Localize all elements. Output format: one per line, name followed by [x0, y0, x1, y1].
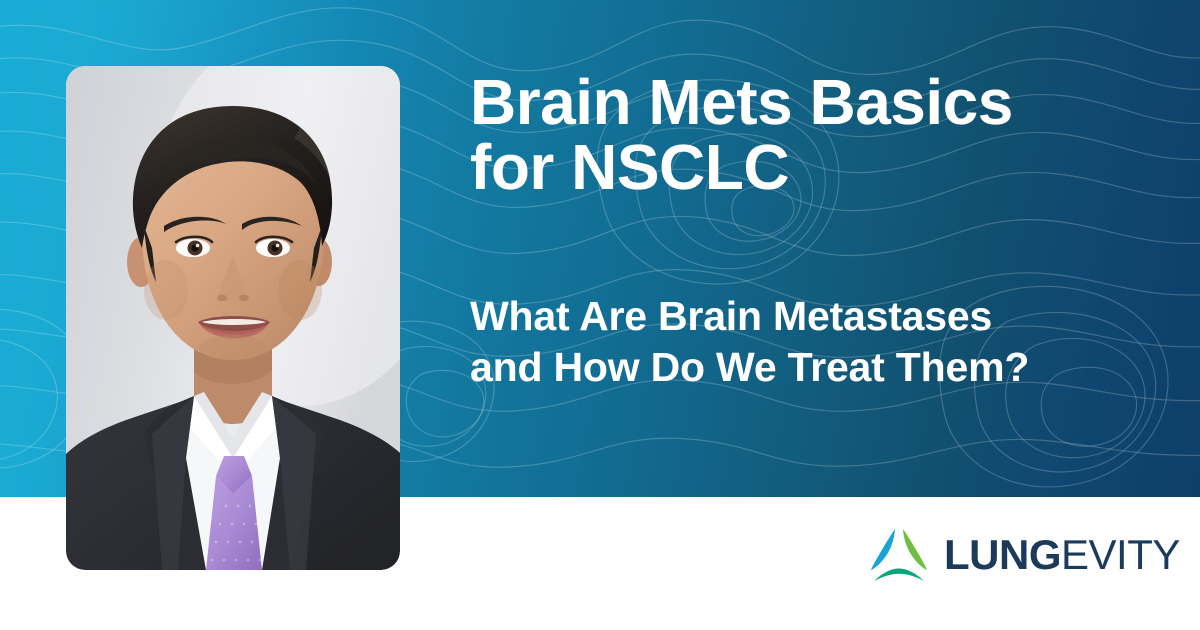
page-subtitle: What Are Brain Metastases and How Do We … [470, 291, 1160, 394]
promo-banner: Brain Mets Basics for NSCLC What Are Bra… [0, 0, 1200, 630]
wordmark-light-part: EVITY [1061, 531, 1180, 578]
headline-line-1: Brain Mets Basics [470, 70, 1160, 135]
subhead-line-1: What Are Brain Metastases [470, 291, 1160, 342]
headline-line-2: for NSCLC [470, 135, 1160, 200]
speaker-portrait-photo [66, 66, 400, 570]
subhead-line-2: and How Do We Treat Them? [470, 342, 1160, 393]
wordmark-bold-part: LUNG [944, 531, 1061, 578]
lungevity-wordmark: LUNGEVITY [944, 534, 1180, 576]
lungevity-logo[interactable]: LUNGEVITY [868, 524, 1184, 586]
page-title: Brain Mets Basics for NSCLC [470, 70, 1160, 201]
hero-text-block: Brain Mets Basics for NSCLC What Are Bra… [470, 0, 1170, 497]
lungevity-tri-petal-icon [868, 526, 930, 584]
